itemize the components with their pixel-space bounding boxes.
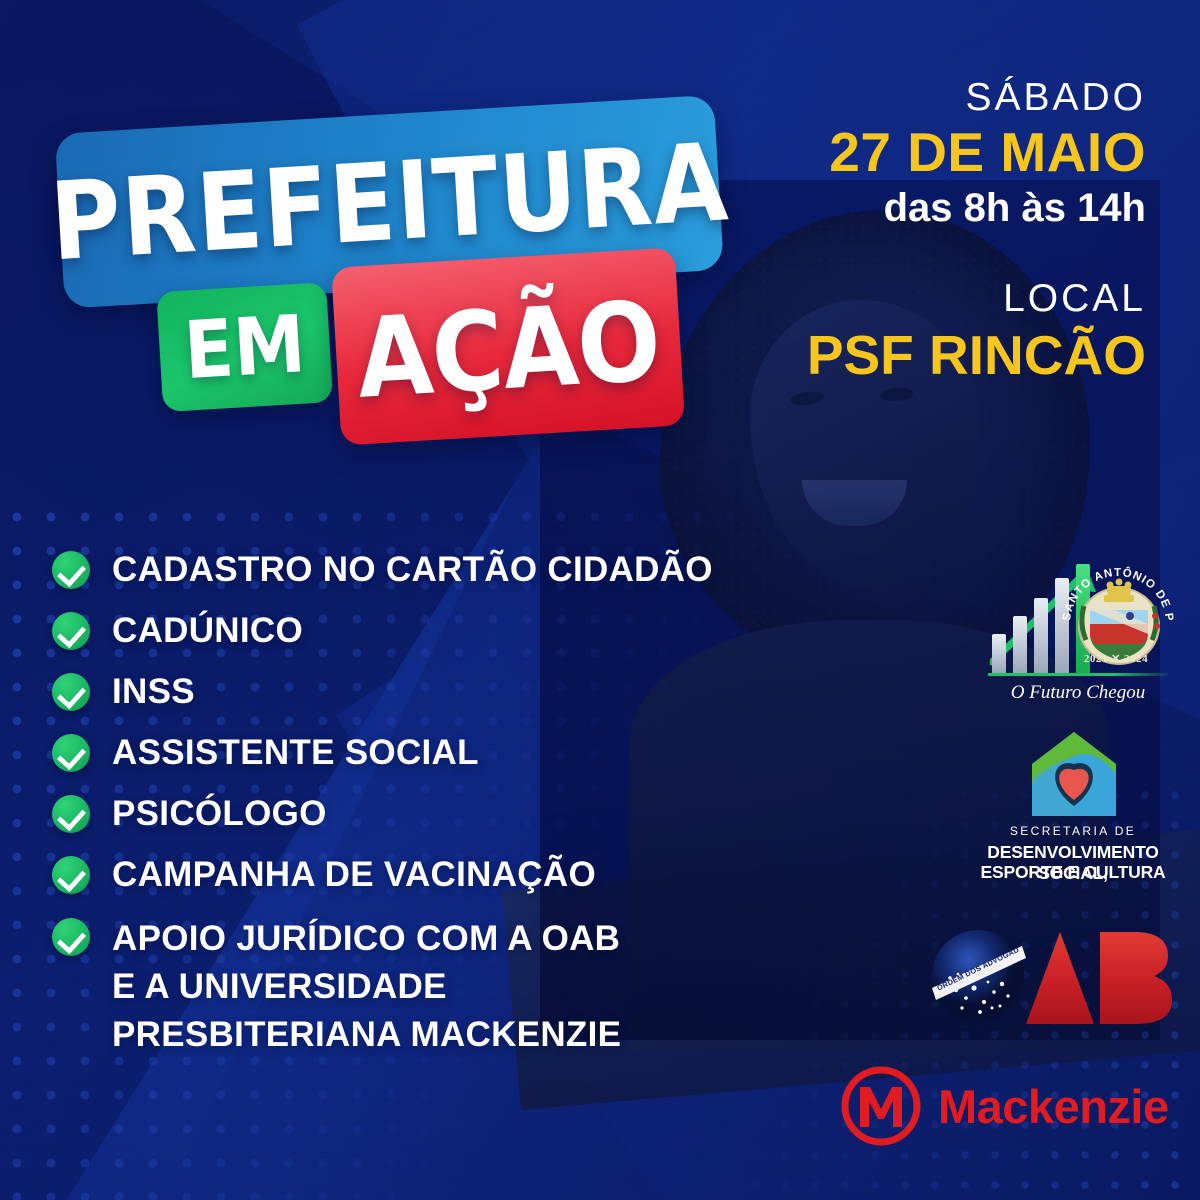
service-label: PSICÓLOGO: [112, 792, 327, 836]
secretaria-line3: ESPORTE E CULTURA: [968, 862, 1178, 883]
secretaria-line1: SECRETARIA DE: [968, 824, 1178, 838]
city-years: 2021 ✕ 2024: [1064, 652, 1168, 665]
badge-acao-label: AÇÃO: [331, 241, 686, 460]
city-tagline: O Futuro Chegou: [978, 682, 1178, 704]
check-circle-icon: [52, 795, 90, 833]
event-info: SÁBADO 27 DE MAIO das 8h às 14h LOCAL PS…: [726, 76, 1146, 387]
service-item: APOIO JURÍDICO COM A OAB E A UNIVERSIDAD…: [52, 915, 832, 1060]
event-local-label: LOCAL: [726, 277, 1146, 321]
city-divider: [988, 673, 1168, 676]
service-item: PSICÓLOGO: [52, 792, 832, 836]
service-item: CADÚNICO: [52, 609, 832, 653]
service-label: CADASTRO NO CARTÃO CIDADÃO: [112, 548, 713, 592]
logo-mackenzie: Mackenzie: [840, 1056, 1170, 1156]
mackenzie-monogram-icon: [840, 1065, 922, 1147]
poster-canvas: PREFEITURA EM AÇÃO SÁBADO 27 DE MAIO das…: [0, 0, 1200, 1200]
logo-secretaria: SECRETARIA DE DESENVOLVIMENTO SOCIAL, ES…: [968, 728, 1178, 880]
check-circle-icon: [52, 918, 90, 956]
logo-santo-antonio-de-posse: SANTO ANTÔNIO DE POSSE-SP 2021 ✕ 2024 O …: [978, 556, 1178, 706]
badge-acao: AÇÃO: [331, 247, 685, 445]
event-weekday: SÁBADO: [726, 76, 1146, 120]
badge-em-label: EM: [156, 276, 334, 418]
service-label: ASSISTENTE SOCIAL: [112, 731, 479, 775]
badge-em: EM: [156, 282, 333, 412]
check-circle-icon: [52, 856, 90, 894]
house-heart-icon: [1026, 728, 1122, 820]
logo-oab: ORDEM DOS ADVOGADOS DO BRASIL: [922, 918, 1182, 1038]
service-label: INSS: [112, 670, 195, 714]
service-item: CAMPANHA DE VACINAÇÃO: [52, 853, 832, 897]
service-item: ASSISTENTE SOCIAL: [52, 731, 832, 775]
check-circle-icon: [52, 612, 90, 650]
services-list: CADASTRO NO CARTÃO CIDADÃO CADÚNICO INSS…: [52, 548, 832, 1059]
service-item: INSS: [52, 670, 832, 714]
mackenzie-wordmark: Mackenzie: [938, 1079, 1169, 1134]
event-local-value: PSF RINCÃO: [726, 323, 1146, 387]
title-lockup: PREFEITURA EM AÇÃO: [36, 76, 757, 487]
service-label: CAMPANHA DE VACINAÇÃO: [112, 853, 596, 897]
event-date: 27 DE MAIO: [726, 124, 1146, 182]
service-label: APOIO JURÍDICO COM A OAB E A UNIVERSIDAD…: [112, 915, 621, 1060]
check-circle-icon: [52, 734, 90, 772]
service-item: CADASTRO NO CARTÃO CIDADÃO: [52, 548, 832, 592]
check-circle-icon: [52, 551, 90, 589]
event-time: das 8h às 14h: [726, 186, 1146, 231]
service-label: CADÚNICO: [112, 609, 303, 653]
check-circle-icon: [52, 673, 90, 711]
